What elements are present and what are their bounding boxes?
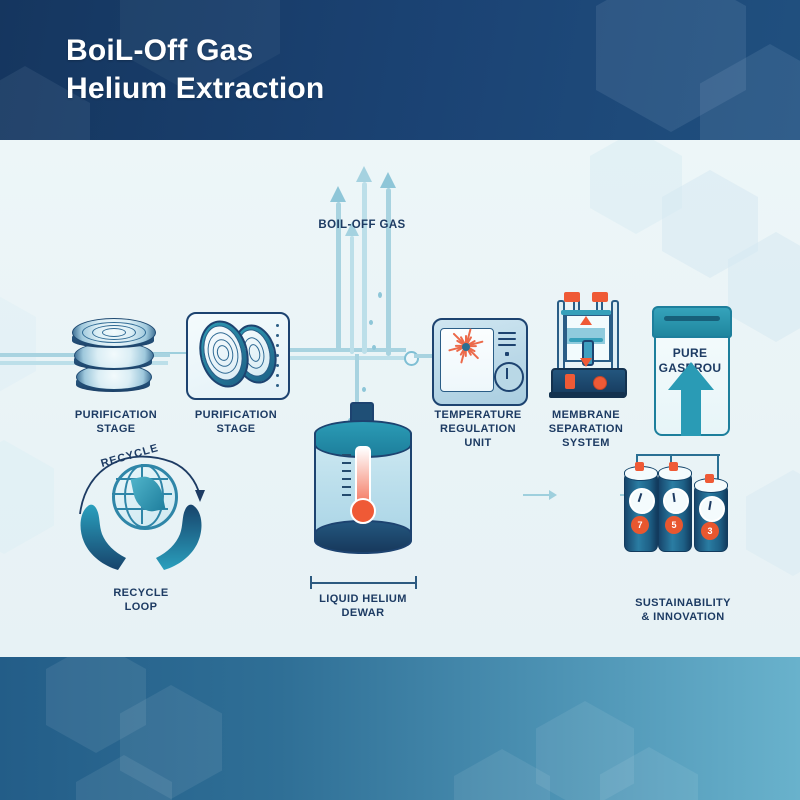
header-banner: BoiL-Off Gas Helium Extraction <box>0 0 800 140</box>
membrane-separation-system-icon[interactable] <box>549 288 625 400</box>
label-line: DEWAR <box>300 606 426 620</box>
boil-off-arrowhead-right <box>380 172 396 188</box>
membrane-indicator-down <box>580 358 592 367</box>
label-line: STAGE <box>178 422 294 436</box>
cylinder-badge: 7 <box>631 516 649 534</box>
pipe-to-temperature-unit <box>414 354 432 358</box>
label-line: TEMPERATURE <box>418 408 538 422</box>
membrane-clip-right <box>592 292 608 302</box>
background-hexagon <box>0 440 54 554</box>
membrane-power-button[interactable] <box>565 374 575 389</box>
pipe-riser-right <box>386 188 391 356</box>
label-line: SYSTEM <box>530 436 642 450</box>
pipe-riser-mid <box>362 182 367 354</box>
boil-off-gas-label: BOIL-OFF GAS <box>282 218 442 233</box>
enclosure-dot <box>276 384 279 387</box>
cylinder-badge: 5 <box>665 516 683 534</box>
cylinder-badge-value: 7 <box>637 520 642 530</box>
thermometer-tick <box>342 478 351 480</box>
gas-droplet <box>372 345 376 350</box>
enclosure-dot <box>276 324 279 327</box>
indicator-bar <box>498 344 516 346</box>
sustainability-cylinders-icon[interactable]: 7 5 3 <box>624 450 742 570</box>
pipe-horizontal-lower <box>286 356 406 360</box>
label-line: & INNOVATION <box>608 610 758 624</box>
label-line: PURIFICATION <box>178 408 294 422</box>
enclosure-dot <box>276 364 279 367</box>
thermometer-tick <box>342 462 351 464</box>
background-hexagon <box>746 470 800 576</box>
label-line: SUSTAINABILITY <box>608 596 758 610</box>
thermometer-tick <box>342 494 351 496</box>
dial-needle <box>506 368 508 379</box>
page-title: BoiL-Off Gas Helium Extraction <box>66 32 324 109</box>
cylinder-manifold-drop <box>717 454 719 480</box>
thermometer-tick <box>342 486 351 488</box>
gas-cylinder-gauge <box>629 488 655 514</box>
hands-icon <box>66 502 216 582</box>
membrane-indicator-up <box>580 316 592 325</box>
connector-arrowhead <box>549 490 557 500</box>
dewar-dimension-cap <box>415 576 417 589</box>
thermometer-tick <box>342 470 351 472</box>
thermometer-tick <box>342 454 351 456</box>
burst-center-hub <box>462 343 470 351</box>
purification-stage-1-icon[interactable] <box>70 312 156 402</box>
cylinder-manifold-bar <box>636 454 720 456</box>
pure-gas-up-arrow-icon <box>664 360 718 436</box>
label-line: REGULATION <box>418 422 538 436</box>
diagram-body: BOIL-OFF GAS PURIFICATION STAGE <box>0 140 800 657</box>
membrane-plate-top <box>561 310 611 315</box>
recycle-loop-label: RECYCLE LOOP <box>78 586 204 614</box>
liquid-helium-dewar-label: LIQUID HELIUM DEWAR <box>300 592 426 620</box>
page-title-line-1: BoiL-Off Gas <box>66 32 324 70</box>
dewar-base <box>314 520 412 554</box>
cylinder-badge-value: 3 <box>707 526 712 536</box>
temperature-dial[interactable] <box>494 362 524 392</box>
indicator-bar <box>498 332 516 334</box>
temperature-regulation-unit-label: TEMPERATURE REGULATION UNIT <box>418 408 538 450</box>
purification-stage-1-label: PURIFICATION STAGE <box>58 408 174 436</box>
gas-cylinder-gauge <box>699 496 725 522</box>
pure-gas-output-icon[interactable]: PURE GASEROU <box>654 308 726 438</box>
dewar-dimension-cap <box>310 576 312 589</box>
cylinder-badge-value: 5 <box>671 520 676 530</box>
purification-stage-2-icon[interactable] <box>186 312 286 396</box>
membrane-separation-system-label: MEMBRANE SEPARATION SYSTEM <box>530 408 642 450</box>
label-line: PURIFICATION <box>58 408 174 422</box>
connector-temperature-to-membrane <box>523 494 551 496</box>
indicator-bar <box>498 338 516 340</box>
membrane-clip-left <box>564 292 580 302</box>
boil-off-arrowhead-mid <box>356 166 372 182</box>
pipe-dewar-to-bundle <box>355 354 359 402</box>
enclosure-dot <box>276 354 279 357</box>
label-line: PURE <box>654 346 726 361</box>
gas-cylinder-gauge <box>663 488 689 514</box>
footer-hexagon-decor <box>454 749 550 800</box>
pipe-riser-inner <box>350 236 354 354</box>
label-line: UNIT <box>418 436 538 450</box>
infographic-canvas: BoiL-Off Gas Helium Extraction <box>0 0 800 800</box>
gas-cylinder-valve <box>705 474 714 483</box>
background-hexagon <box>0 290 36 398</box>
enclosure-dot <box>276 374 279 377</box>
label-line: STAGE <box>58 422 174 436</box>
liquid-helium-dewar-icon[interactable] <box>306 402 416 582</box>
thermometer-bulb <box>350 498 376 524</box>
indicator-dot <box>505 352 509 356</box>
label-line: MEMBRANE <box>530 408 642 422</box>
temperature-regulation-unit-icon[interactable] <box>432 318 524 402</box>
recycle-loop-icon[interactable]: RECYCLE <box>66 440 216 580</box>
disc-ring <box>102 328 126 337</box>
label-line: SEPARATION <box>530 422 642 436</box>
pure-gas-container-cap <box>652 306 732 338</box>
gas-cylinder-valve <box>669 462 678 471</box>
footer-banner <box>0 657 800 800</box>
gas-cylinder-valve <box>635 462 644 471</box>
dewar-dimension-line <box>310 582 416 584</box>
cylinder-badge: 3 <box>701 522 719 540</box>
membrane-knob[interactable] <box>593 376 607 390</box>
boil-off-arrowhead-left <box>330 186 346 202</box>
enclosure-dot <box>276 334 279 337</box>
label-line: RECYCLE <box>78 586 204 600</box>
membrane-post-right <box>611 300 619 378</box>
gas-droplet <box>378 292 382 298</box>
purification-stage-2-label: PURIFICATION STAGE <box>178 408 294 436</box>
label-line: LIQUID HELIUM <box>300 592 426 606</box>
enclosure-dot <box>276 344 279 347</box>
pure-gas-cap-slot <box>664 316 720 321</box>
gas-droplet <box>362 387 366 392</box>
label-line: LOOP <box>78 600 204 614</box>
gas-droplet <box>369 320 373 325</box>
sustainability-label: SUSTAINABILITY & INNOVATION <box>608 596 758 624</box>
page-title-line-2: Helium Extraction <box>66 70 324 108</box>
membrane-foot <box>549 392 625 398</box>
